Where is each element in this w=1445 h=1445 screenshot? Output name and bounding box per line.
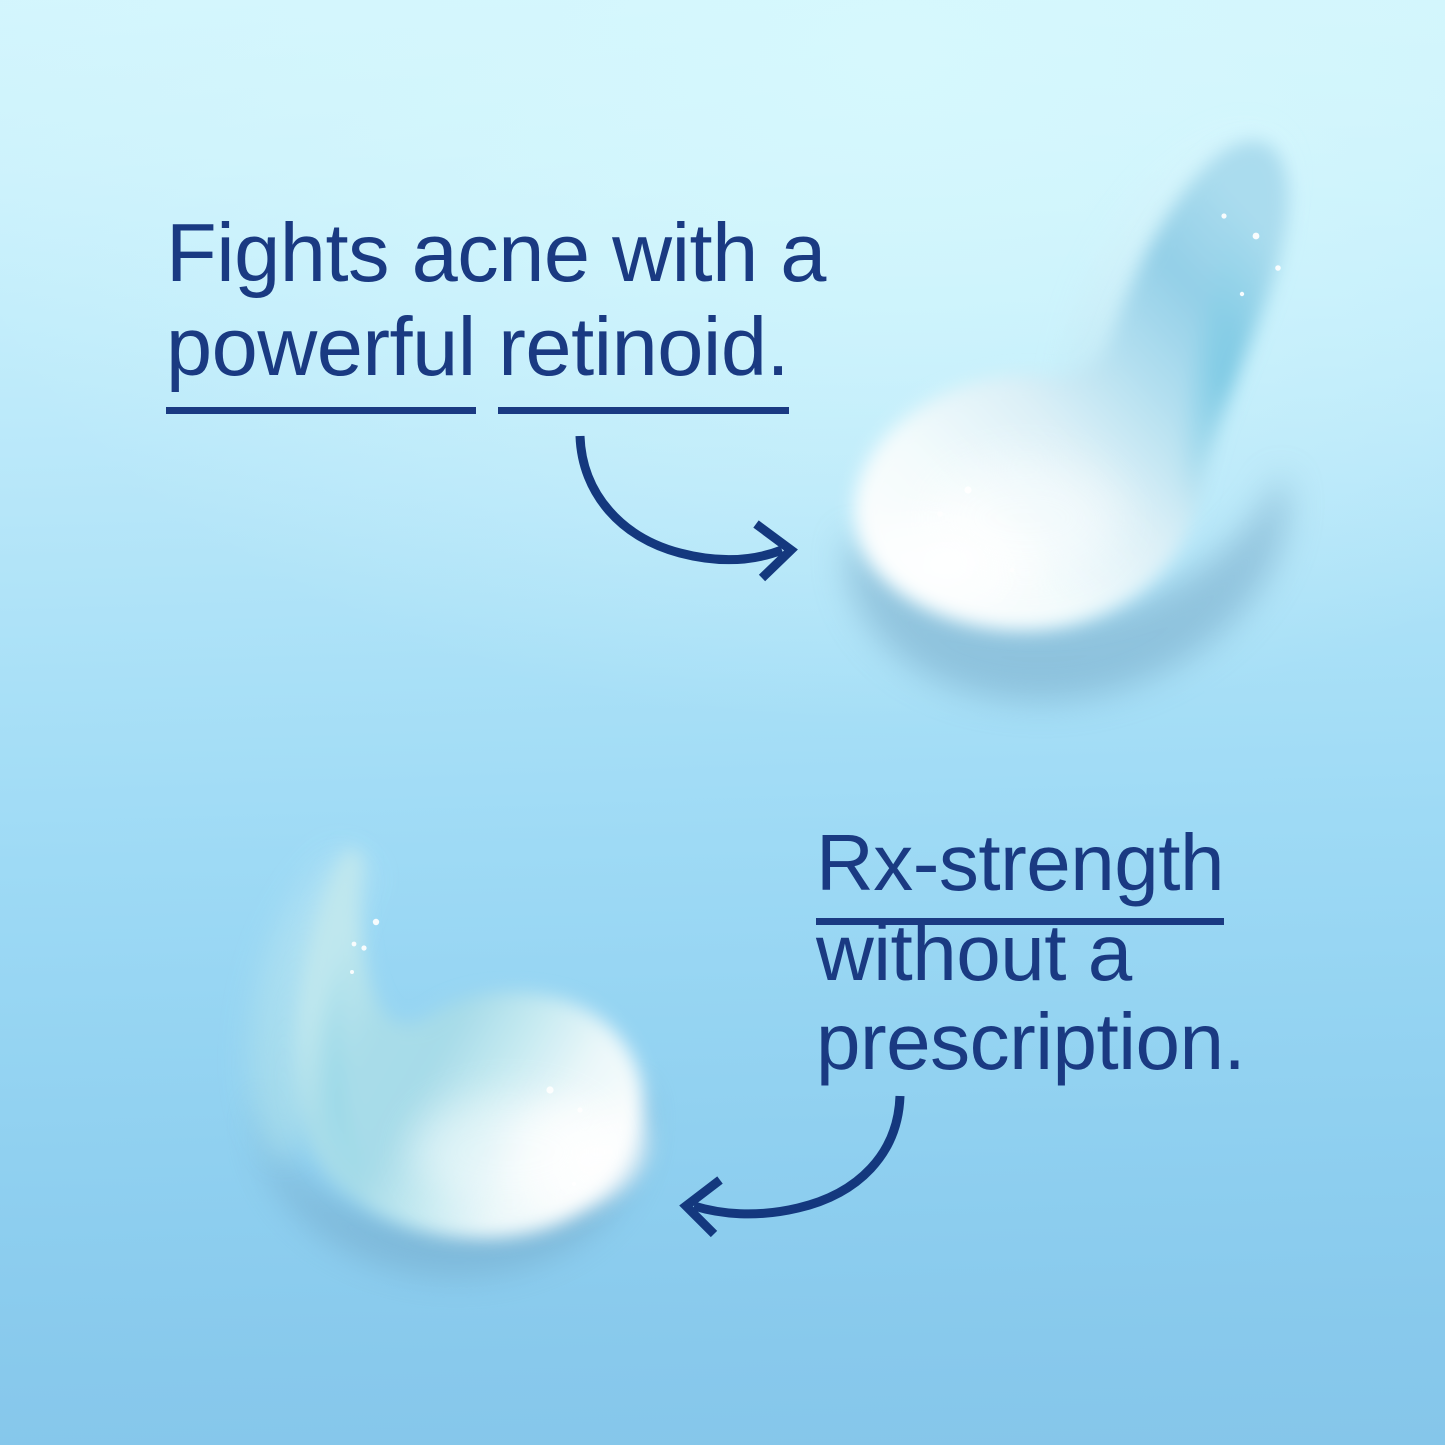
underlined-word-retinoid: retinoid. — [498, 300, 789, 394]
product-claim-graphic: Fights acne with a powerful retinoid. Rx… — [0, 0, 1445, 1445]
underlined-word-rx-strength: Rx-strength — [816, 818, 1224, 908]
headline-top: Fights acne with a powerful retinoid. — [166, 206, 826, 394]
headline-top-space — [476, 300, 499, 393]
gel-swatch-bottom — [150, 846, 690, 1306]
headline-top-line-2: powerful retinoid. — [166, 300, 826, 394]
headline-bottom-line-3: prescription. — [816, 997, 1245, 1087]
gel-swatch-top — [812, 118, 1332, 718]
headline-bottom-line-1: Rx-strength — [816, 818, 1245, 908]
arrow-bottom — [668, 1082, 920, 1250]
headline-bottom: Rx-strength without a prescription. — [816, 818, 1245, 1087]
arrow-top — [560, 420, 820, 590]
underlined-word-powerful: powerful — [166, 300, 476, 394]
headline-top-line-1: Fights acne with a — [166, 206, 826, 300]
